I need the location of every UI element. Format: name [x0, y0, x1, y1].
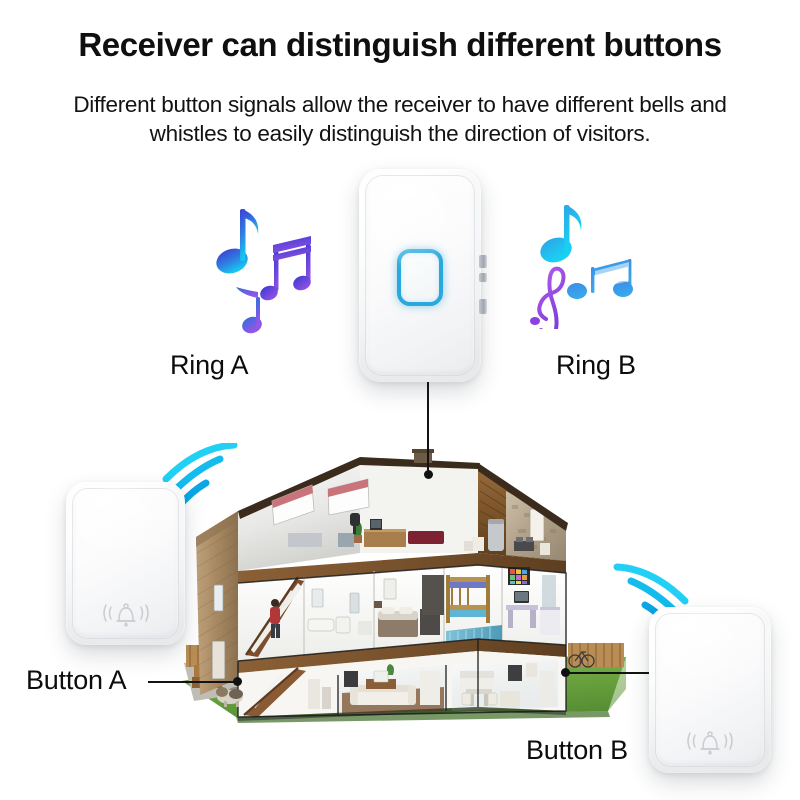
- connector-line-receiver: [427, 382, 429, 474]
- treble-clef-icon: [539, 269, 563, 329]
- doorbell-button-b[interactable]: [649, 607, 771, 773]
- receiver-side-button-mode[interactable]: [479, 273, 487, 282]
- house-left-wall: [196, 511, 238, 695]
- beamed-notes-icon: [567, 259, 633, 299]
- page-subtitle: Different button signals allow the recei…: [36, 90, 764, 149]
- receiver-indicator-light: [397, 249, 443, 306]
- label-button-a: Button A: [26, 665, 126, 696]
- infographic-page: Receiver can distinguish different butto…: [0, 0, 800, 800]
- beamed-notes-icon: [258, 236, 313, 303]
- treble-clef-accent: [530, 317, 540, 325]
- connector-line-button-a: [148, 681, 238, 683]
- doorbell-button-a[interactable]: [66, 482, 185, 645]
- bell-icon: [681, 725, 739, 757]
- label-ring-b: Ring B: [556, 350, 636, 381]
- garden-right: [568, 643, 624, 667]
- small-eighth-note-icon: [236, 287, 264, 336]
- label-button-b: Button B: [526, 735, 628, 766]
- connector-dot-button-a: [233, 677, 242, 686]
- house-cutaway-illustration: [178, 449, 632, 724]
- connector-dot-receiver: [424, 470, 433, 479]
- living-room: [338, 664, 446, 715]
- eighth-note-icon: [213, 209, 258, 277]
- page-title: Receiver can distinguish different butto…: [0, 26, 800, 64]
- label-ring-a: Ring A: [170, 350, 248, 381]
- receiver-side-button-up[interactable]: [479, 255, 487, 268]
- bell-icon: [97, 597, 155, 629]
- house-attic: [238, 449, 568, 583]
- house-svg: [178, 449, 632, 724]
- eighth-note-icon: [537, 205, 581, 266]
- person-figure: [270, 599, 280, 638]
- connector-line-button-b: [565, 672, 657, 674]
- kitchen-dining: [452, 659, 558, 711]
- receiver-side-button-down[interactable]: [479, 299, 487, 314]
- chime-receiver-device[interactable]: [359, 169, 481, 382]
- music-notes-right-cluster: [513, 203, 661, 329]
- music-notes-left-cluster: [196, 205, 342, 340]
- connector-dot-button-b: [561, 668, 570, 677]
